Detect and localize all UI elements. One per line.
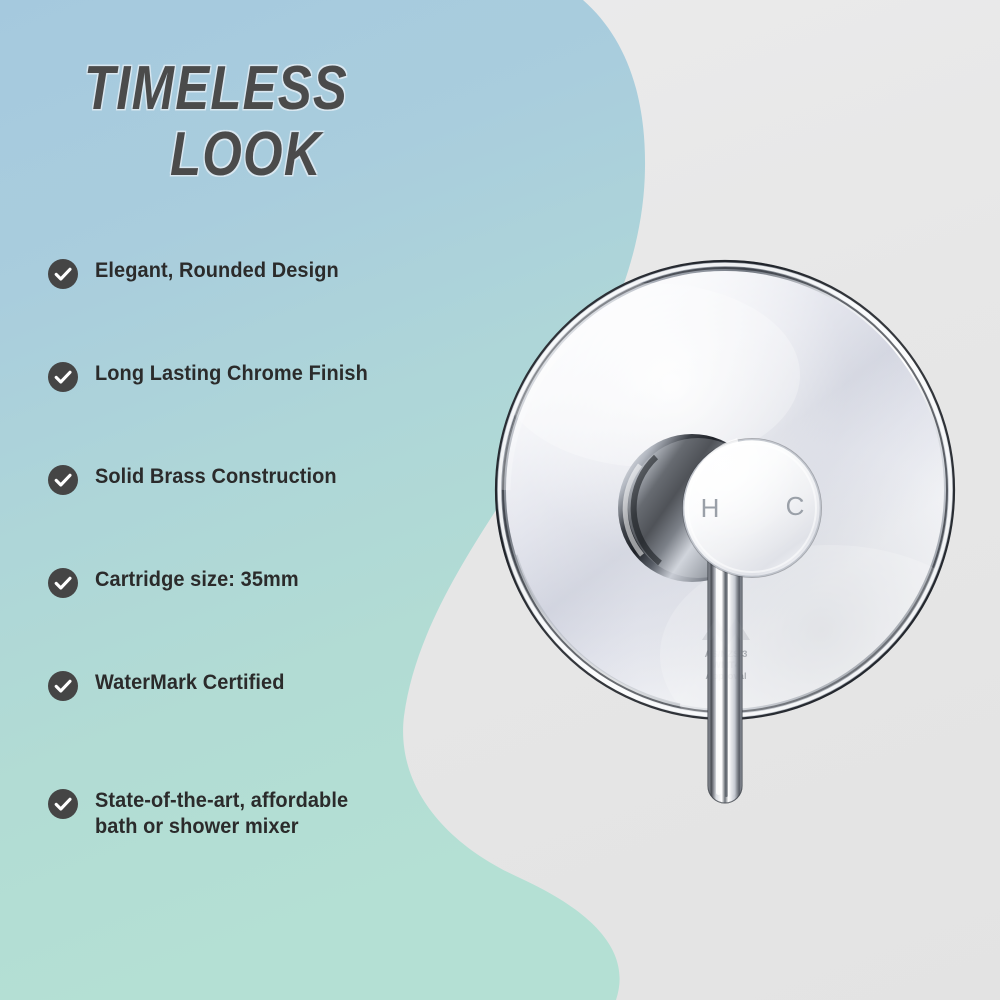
product-image-chrome-mixer: AS/NZS 3 WMT4 Approval H C	[470, 225, 990, 845]
feature-label: WaterMark Certified	[95, 670, 285, 696]
check-circle-icon	[48, 362, 78, 392]
headline-line-2: Look	[170, 122, 485, 188]
knob-hot-label: H	[701, 493, 720, 523]
check-circle-icon	[48, 568, 78, 598]
feature-item-3: Solid Brass Construction	[48, 464, 349, 495]
feature-item-6: State-of-the-art, affordable bath or sho…	[48, 788, 361, 840]
check-circle-icon	[48, 259, 78, 289]
knob-cold-label: C	[786, 491, 805, 521]
check-circle-icon	[48, 671, 78, 701]
headline: Timeless Look	[84, 56, 554, 188]
feature-label: Solid Brass Construction	[95, 464, 337, 490]
feature-label: Elegant, Rounded Design	[95, 258, 339, 284]
headline-line-1: Timeless	[84, 56, 469, 122]
feature-item-1: Elegant, Rounded Design	[48, 258, 352, 289]
feature-item-5: WaterMark Certified	[48, 670, 295, 701]
feature-item-2: Long Lasting Chrome Finish	[48, 361, 382, 392]
check-circle-icon	[48, 789, 78, 819]
feature-item-4: Cartridge size: 35mm	[48, 567, 309, 598]
check-circle-icon	[48, 465, 78, 495]
feature-label: State-of-the-art, affordable bath or sho…	[95, 788, 348, 840]
mixer-control-knob: H C	[682, 438, 822, 578]
product-feature-banner: Timeless Look Elegant, Rounded Design Lo…	[0, 0, 1000, 1000]
feature-label: Long Lasting Chrome Finish	[95, 361, 368, 387]
feature-label: Cartridge size: 35mm	[95, 567, 299, 593]
